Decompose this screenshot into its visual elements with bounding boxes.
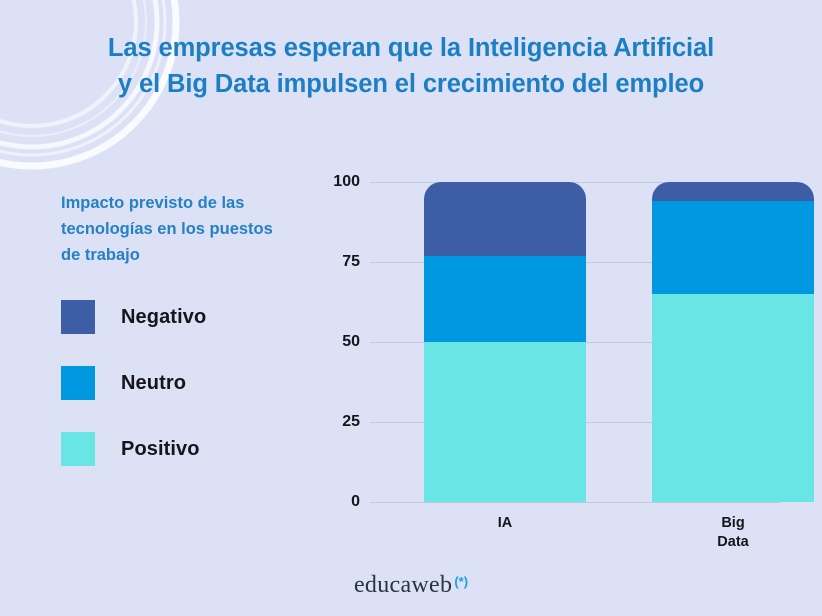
bar-segment-negativo[interactable] [652, 182, 814, 201]
chart-legend: Impacto previsto de las tecnologías en l… [61, 190, 291, 494]
bar-segment-negativo[interactable] [424, 182, 586, 256]
bar-segment-positivo[interactable] [424, 342, 586, 502]
y-axis-tick-label: 100 [270, 173, 360, 191]
gridline [370, 502, 780, 503]
x-axis-label-line: Big [652, 514, 814, 533]
x-axis-label-line: Data [652, 533, 814, 552]
bar-segment-neutro[interactable] [652, 201, 814, 294]
x-axis-tick-label: BigData [652, 514, 814, 552]
logo-wordmark: educaweb [354, 572, 452, 598]
legend-heading: Impacto previsto de las tecnologías en l… [61, 190, 281, 268]
legend-swatch-negativo [61, 300, 95, 334]
bar-big-data[interactable] [652, 182, 814, 502]
legend-swatch-neutro [61, 366, 95, 400]
x-axis-label-line: IA [424, 514, 586, 533]
x-axis-tick-label: IA [424, 514, 586, 533]
bar-ia[interactable] [424, 182, 586, 502]
legend-swatch-positivo [61, 432, 95, 466]
legend-item-neutro: Neutro [61, 362, 291, 404]
y-axis-tick-label: 0 [270, 493, 360, 511]
title-line-2: y el Big Data impulsen el crecimiento de… [0, 66, 822, 102]
title-line-1: Las empresas esperan que la Inteligencia… [0, 30, 822, 66]
legend-label-negativo: Negativo [121, 306, 206, 329]
y-axis-tick-label: 75 [270, 253, 360, 271]
legend-label-positivo: Positivo [121, 438, 200, 461]
legend-label-neutro: Neutro [121, 372, 186, 395]
bar-segment-neutro[interactable] [424, 256, 586, 342]
legend-items: Negativo Neutro Positivo [61, 296, 291, 470]
stacked-bar-chart: 0255075100IABigData [316, 170, 786, 560]
page-title: Las empresas esperan que la Inteligencia… [0, 30, 822, 102]
logo-asterisk-icon: (*) [454, 574, 468, 589]
educaweb-logo: educaweb(*) [0, 572, 822, 599]
y-axis-tick-label: 50 [270, 333, 360, 351]
legend-item-negativo: Negativo [61, 296, 291, 338]
plot-area: 0255075100IABigData [370, 182, 780, 502]
legend-item-positivo: Positivo [61, 428, 291, 470]
y-axis-tick-label: 25 [270, 413, 360, 431]
bar-segment-positivo[interactable] [652, 294, 814, 502]
